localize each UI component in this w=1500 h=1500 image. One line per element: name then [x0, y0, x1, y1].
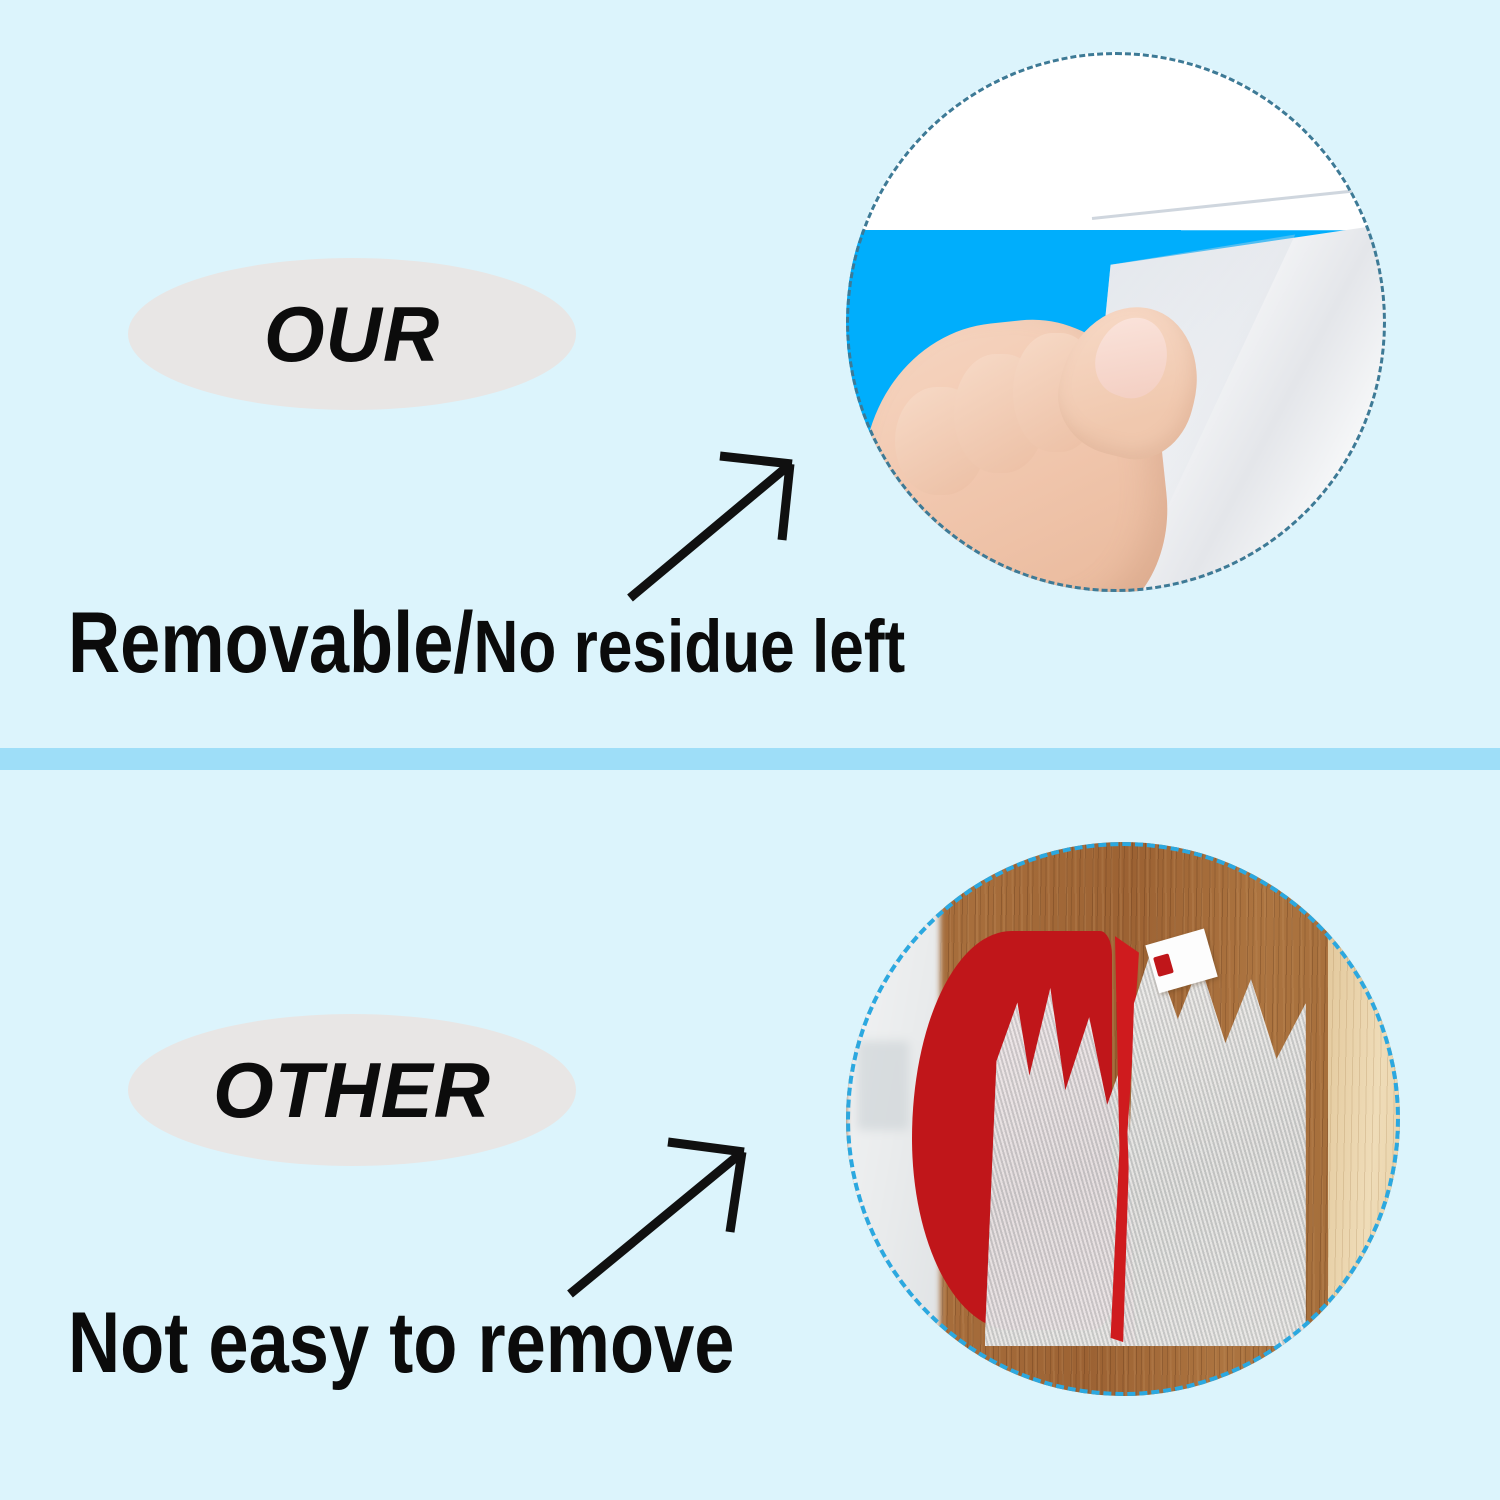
badge-our: OUR [128, 258, 576, 410]
caption-our-lead: Removable/ [68, 595, 474, 691]
photo-sticker-residue [846, 842, 1400, 1396]
badge-our-label: OUR [264, 295, 440, 373]
caption-other-lead: Not easy to remove [68, 1295, 734, 1391]
arrow-up-right-other [556, 1128, 766, 1308]
photo-peeling-sticker [846, 52, 1386, 592]
badge-other: OTHER [128, 1014, 576, 1166]
photo2-light-wood-edge [1328, 842, 1400, 1396]
caption-our-rest: No residue left [474, 605, 906, 688]
comparison-infographic: OUR Removable/No residue left [0, 0, 1500, 1500]
arrow-up-right-our [616, 440, 816, 610]
section-divider [0, 748, 1500, 770]
caption-our: Removable/No residue left [68, 600, 905, 686]
badge-other-label: OTHER [213, 1051, 491, 1129]
caption-other: Not easy to remove [68, 1300, 734, 1386]
